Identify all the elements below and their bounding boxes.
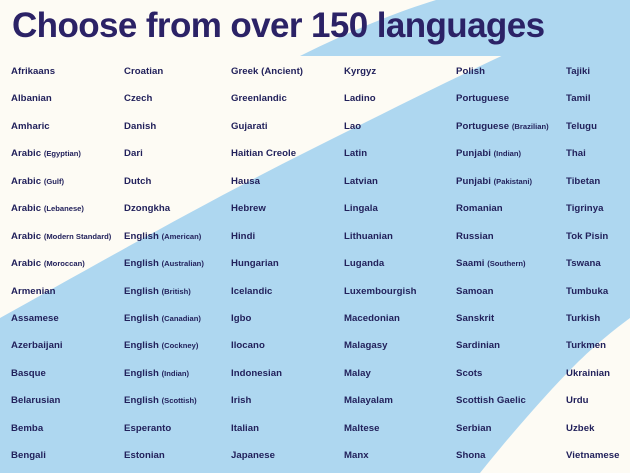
language-name: English bbox=[124, 286, 159, 297]
language-name: English bbox=[124, 340, 159, 351]
list-item[interactable]: Italian bbox=[231, 415, 344, 442]
language-name: Portuguese bbox=[456, 121, 509, 132]
list-item[interactable]: Arabic (Lebanese) bbox=[11, 195, 124, 222]
language-name: Italian bbox=[231, 423, 259, 434]
language-name: Scots bbox=[456, 368, 482, 379]
language-name: Indonesian bbox=[231, 368, 282, 379]
language-name: Saami bbox=[456, 258, 484, 269]
list-item[interactable]: Uzbek bbox=[566, 415, 630, 442]
language-name: Arabic bbox=[11, 203, 41, 214]
language-name: Haitian Creole bbox=[231, 148, 296, 159]
language-name: Vietnamese bbox=[566, 450, 620, 461]
list-item[interactable]: Amharic bbox=[11, 113, 124, 140]
language-name: Punjabi bbox=[456, 176, 491, 187]
language-name: Arabic bbox=[11, 231, 41, 242]
list-item[interactable]: Irish bbox=[231, 387, 344, 414]
list-item[interactable]: Greek (Ancient) bbox=[231, 58, 344, 85]
language-name: Bemba bbox=[11, 423, 43, 434]
list-item[interactable]: Thai bbox=[566, 140, 630, 167]
list-item[interactable]: Turkish bbox=[566, 305, 630, 332]
language-qualifier: (Scottish) bbox=[162, 396, 197, 405]
language-column-5: Polish Portuguese Portuguese (Brazilian)… bbox=[456, 58, 566, 473]
language-name: Sardinian bbox=[456, 340, 500, 351]
list-item[interactable]: Dari bbox=[124, 140, 231, 167]
language-name: Irish bbox=[231, 395, 251, 406]
language-name: Manx bbox=[344, 450, 369, 461]
language-column-4: Kyrgyz Ladino Lao Latin Latvian Lingala … bbox=[344, 58, 456, 473]
list-item[interactable]: Fijian bbox=[124, 470, 231, 473]
list-item[interactable]: Dzongkha bbox=[124, 195, 231, 222]
language-name: Turkish bbox=[566, 313, 600, 324]
list-item[interactable]: English (Indian) bbox=[124, 360, 231, 387]
language-name: Hebrew bbox=[231, 203, 266, 214]
language-name: Greek (Ancient) bbox=[231, 66, 303, 77]
list-item[interactable]: Hausa bbox=[231, 168, 344, 195]
list-item[interactable]: Arabic (Moroccan) bbox=[11, 250, 124, 277]
language-name: Ilocano bbox=[231, 340, 265, 351]
language-name: Luganda bbox=[344, 258, 384, 269]
language-name: Telugu bbox=[566, 121, 597, 132]
language-name: Ukrainian bbox=[566, 368, 610, 379]
language-name: Tigrinya bbox=[566, 203, 603, 214]
list-item[interactable]: Haitian Creole bbox=[231, 140, 344, 167]
list-item[interactable]: Punjabi (Pakistani) bbox=[456, 168, 566, 195]
language-name: Sanskrit bbox=[456, 313, 494, 324]
language-name: Shona bbox=[456, 450, 486, 461]
language-name: Igbo bbox=[231, 313, 251, 324]
language-list-poster: Choose from over 150 languages Afrikaans… bbox=[0, 0, 630, 473]
list-item[interactable]: Urdu bbox=[566, 387, 630, 414]
list-item[interactable]: Tumbuka bbox=[566, 278, 630, 305]
language-name: Urdu bbox=[566, 395, 589, 406]
language-name: Russian bbox=[456, 231, 494, 242]
language-name: Thai bbox=[566, 148, 586, 159]
language-qualifier: (Canadian) bbox=[162, 314, 201, 323]
language-name: Ladino bbox=[344, 93, 376, 104]
list-item[interactable]: Tibetan bbox=[566, 168, 630, 195]
language-name: Arabic bbox=[11, 258, 41, 269]
language-name: Arabic bbox=[11, 148, 41, 159]
list-item[interactable]: Greenlandic bbox=[231, 85, 344, 112]
language-name: Assamese bbox=[11, 313, 59, 324]
list-item[interactable]: Kyrgyz bbox=[344, 58, 456, 85]
list-item[interactable]: Bemba bbox=[11, 415, 124, 442]
language-qualifier: (Modern Standard) bbox=[44, 232, 112, 241]
list-item[interactable]: Ladino bbox=[344, 85, 456, 112]
list-item[interactable]: Czech bbox=[124, 85, 231, 112]
list-item[interactable]: Luxembourgish bbox=[344, 278, 456, 305]
language-name: Hindi bbox=[231, 231, 255, 242]
language-name: Malagasy bbox=[344, 340, 388, 351]
list-item[interactable]: Croatian bbox=[124, 58, 231, 85]
language-name: Malayalam bbox=[344, 395, 393, 406]
language-qualifier: (Egyptian) bbox=[44, 149, 81, 158]
list-item[interactable]: Tok Pisin bbox=[566, 223, 630, 250]
list-item[interactable]: Macedonian bbox=[344, 305, 456, 332]
list-item[interactable]: Serbian bbox=[456, 415, 566, 442]
language-name: Esperanto bbox=[124, 423, 171, 434]
language-name: Albanian bbox=[11, 93, 52, 104]
language-name: Lithuanian bbox=[344, 231, 393, 242]
list-item[interactable]: Albanian bbox=[11, 85, 124, 112]
language-name: Lao bbox=[344, 121, 361, 132]
list-item[interactable]: Tigrinya bbox=[566, 195, 630, 222]
language-name: Luxembourgish bbox=[344, 286, 416, 297]
list-item[interactable]: Azerbaijani bbox=[11, 332, 124, 359]
language-name: Kyrgyz bbox=[344, 66, 376, 77]
list-item[interactable]: Sanskrit bbox=[456, 305, 566, 332]
language-name: English bbox=[124, 231, 159, 242]
language-name: Azerbaijani bbox=[11, 340, 63, 351]
language-name: Dari bbox=[124, 148, 143, 159]
list-item[interactable]: Assamese bbox=[11, 305, 124, 332]
language-name: Estonian bbox=[124, 450, 165, 461]
list-item[interactable]: Hungarian bbox=[231, 250, 344, 277]
language-name: Latin bbox=[344, 148, 367, 159]
language-name: Serbian bbox=[456, 423, 491, 434]
language-name: Samoan bbox=[456, 286, 494, 297]
list-item[interactable]: Samoan bbox=[456, 278, 566, 305]
language-qualifier: (Lebanese) bbox=[44, 204, 84, 213]
language-name: Romanian bbox=[456, 203, 503, 214]
list-item[interactable]: Bengali bbox=[11, 442, 124, 469]
list-item[interactable]: Indonesian bbox=[231, 360, 344, 387]
language-name: Scottish Gaelic bbox=[456, 395, 526, 406]
language-name: Dutch bbox=[124, 176, 151, 187]
list-item[interactable]: Welsh bbox=[566, 470, 630, 473]
list-item[interactable]: English (Canadian) bbox=[124, 305, 231, 332]
page-title: Choose from over 150 languages bbox=[0, 6, 544, 45]
language-name: Tumbuka bbox=[566, 286, 608, 297]
language-grid: Afrikaans Albanian Amharic Arabic (Egypt… bbox=[0, 58, 630, 470]
language-name: Hausa bbox=[231, 176, 260, 187]
language-name: Basque bbox=[11, 368, 46, 379]
list-item[interactable]: Tswana bbox=[566, 250, 630, 277]
language-name: Arabic bbox=[11, 176, 41, 187]
language-name: Tajiki bbox=[566, 66, 590, 77]
list-item[interactable]: Romanian bbox=[456, 195, 566, 222]
list-item[interactable]: Russian bbox=[456, 223, 566, 250]
language-qualifier: (British) bbox=[162, 287, 191, 296]
list-item[interactable]: English (Australian) bbox=[124, 250, 231, 277]
list-item[interactable]: Ukrainian bbox=[566, 360, 630, 387]
language-name: Maltese bbox=[344, 423, 379, 434]
list-item[interactable]: Vietnamese bbox=[566, 442, 630, 469]
language-name: Tok Pisin bbox=[566, 231, 608, 242]
language-name: English bbox=[124, 395, 159, 406]
list-item[interactable]: Arabic (Modern Standard) bbox=[11, 223, 124, 250]
list-item[interactable]: Tamil bbox=[566, 85, 630, 112]
list-item[interactable]: Tajiki bbox=[566, 58, 630, 85]
language-name: Tibetan bbox=[566, 176, 600, 187]
list-item[interactable]: Dutch bbox=[124, 168, 231, 195]
list-item[interactable]: Icelandic bbox=[231, 278, 344, 305]
language-qualifier: (Indian) bbox=[162, 369, 189, 378]
language-name: Japanese bbox=[231, 450, 275, 461]
list-item[interactable]: English (Scottish) bbox=[124, 387, 231, 414]
language-name: Armenian bbox=[11, 286, 56, 297]
list-item[interactable]: Sicilian bbox=[456, 470, 566, 473]
list-item[interactable]: Malay bbox=[344, 360, 456, 387]
list-item[interactable]: English (American) bbox=[124, 223, 231, 250]
list-item[interactable]: Scottish Gaelic bbox=[456, 387, 566, 414]
list-item[interactable]: Luganda bbox=[344, 250, 456, 277]
list-item[interactable]: Saami (Southern) bbox=[456, 250, 566, 277]
language-name: Afrikaans bbox=[11, 66, 55, 77]
list-item[interactable]: Manx bbox=[344, 442, 456, 469]
list-item[interactable]: Polish bbox=[456, 58, 566, 85]
list-item[interactable]: Arabic (Gulf) bbox=[11, 168, 124, 195]
language-name: Czech bbox=[124, 93, 152, 104]
language-name: Portuguese bbox=[456, 93, 509, 104]
language-column-1: Afrikaans Albanian Amharic Arabic (Egypt… bbox=[11, 58, 124, 473]
list-item[interactable]: Belarusian bbox=[11, 387, 124, 414]
list-item[interactable]: Hindi bbox=[231, 223, 344, 250]
list-item[interactable]: Lao bbox=[344, 113, 456, 140]
list-item[interactable]: Portuguese (Brazilian) bbox=[456, 113, 566, 140]
language-qualifier: (Brazilian) bbox=[512, 122, 549, 131]
language-name: Danish bbox=[124, 121, 156, 132]
language-name: English bbox=[124, 258, 159, 269]
list-item[interactable]: Latin bbox=[344, 140, 456, 167]
list-item[interactable]: Arabic (Egyptian) bbox=[11, 140, 124, 167]
language-name: Hungarian bbox=[231, 258, 279, 269]
language-name: Uzbek bbox=[566, 423, 594, 434]
list-item[interactable]: Javanese bbox=[231, 470, 344, 473]
language-qualifier: (Southern) bbox=[487, 259, 525, 268]
list-item[interactable]: Hebrew bbox=[231, 195, 344, 222]
language-name: Croatian bbox=[124, 66, 163, 77]
list-item[interactable]: Sardinian bbox=[456, 332, 566, 359]
list-item[interactable]: Ilocano bbox=[231, 332, 344, 359]
language-name: Bengali bbox=[11, 450, 46, 461]
language-qualifier: (Australian) bbox=[162, 259, 204, 268]
list-item[interactable]: Estonian bbox=[124, 442, 231, 469]
list-item[interactable]: Portuguese bbox=[456, 85, 566, 112]
language-name: Macedonian bbox=[344, 313, 400, 324]
language-name: Turkmen bbox=[566, 340, 606, 351]
list-item[interactable]: English (British) bbox=[124, 278, 231, 305]
language-name: Amharic bbox=[11, 121, 50, 132]
list-item[interactable]: Telugu bbox=[566, 113, 630, 140]
list-item[interactable]: Igbo bbox=[231, 305, 344, 332]
list-item[interactable]: Danish bbox=[124, 113, 231, 140]
language-qualifier: (Gulf) bbox=[44, 177, 64, 186]
language-name: Icelandic bbox=[231, 286, 272, 297]
list-item[interactable]: Maltese bbox=[344, 415, 456, 442]
list-item[interactable]: Shona bbox=[456, 442, 566, 469]
language-name: Dzongkha bbox=[124, 203, 170, 214]
language-name: Greenlandic bbox=[231, 93, 287, 104]
language-name: Tswana bbox=[566, 258, 601, 269]
language-qualifier: (Cockney) bbox=[162, 341, 199, 350]
list-item[interactable]: Scots bbox=[456, 360, 566, 387]
list-item[interactable]: Lithuanian bbox=[344, 223, 456, 250]
list-item[interactable]: Japanese bbox=[231, 442, 344, 469]
list-item[interactable]: Gujarati bbox=[231, 113, 344, 140]
language-qualifier: (Indian) bbox=[494, 149, 521, 158]
list-item[interactable]: Bosnian bbox=[11, 470, 124, 473]
list-item[interactable]: Maori bbox=[344, 470, 456, 473]
language-name: Malay bbox=[344, 368, 371, 379]
list-item[interactable]: Turkmen bbox=[566, 332, 630, 359]
language-qualifier: (American) bbox=[162, 232, 202, 241]
language-qualifier: (Pakistani) bbox=[494, 177, 532, 186]
language-name: Tamil bbox=[566, 93, 591, 104]
list-item[interactable]: Esperanto bbox=[124, 415, 231, 442]
language-name: Punjabi bbox=[456, 148, 491, 159]
list-item[interactable]: English (Cockney) bbox=[124, 332, 231, 359]
language-column-3: Greek (Ancient) Greenlandic Gujarati Hai… bbox=[231, 58, 344, 473]
language-name: Gujarati bbox=[231, 121, 268, 132]
language-name: English bbox=[124, 313, 159, 324]
language-name: Polish bbox=[456, 66, 485, 77]
list-item[interactable]: Armenian bbox=[11, 278, 124, 305]
language-name: English bbox=[124, 368, 159, 379]
list-item[interactable]: Basque bbox=[11, 360, 124, 387]
language-qualifier: (Moroccan) bbox=[44, 259, 85, 268]
list-item[interactable]: Malagasy bbox=[344, 332, 456, 359]
list-item[interactable]: Punjabi (Indian) bbox=[456, 140, 566, 167]
language-name: Lingala bbox=[344, 203, 378, 214]
list-item[interactable]: Lingala bbox=[344, 195, 456, 222]
language-name: Belarusian bbox=[11, 395, 60, 406]
list-item[interactable]: Malayalam bbox=[344, 387, 456, 414]
language-column-2: Croatian Czech Danish Dari Dutch Dzongkh… bbox=[124, 58, 231, 473]
language-column-6: Tajiki Tamil Telugu Thai Tibetan Tigriny… bbox=[566, 58, 630, 473]
language-name: Latvian bbox=[344, 176, 378, 187]
list-item[interactable]: Latvian bbox=[344, 168, 456, 195]
list-item[interactable]: Afrikaans bbox=[11, 58, 124, 85]
poster-header: Choose from over 150 languages bbox=[0, 0, 630, 50]
